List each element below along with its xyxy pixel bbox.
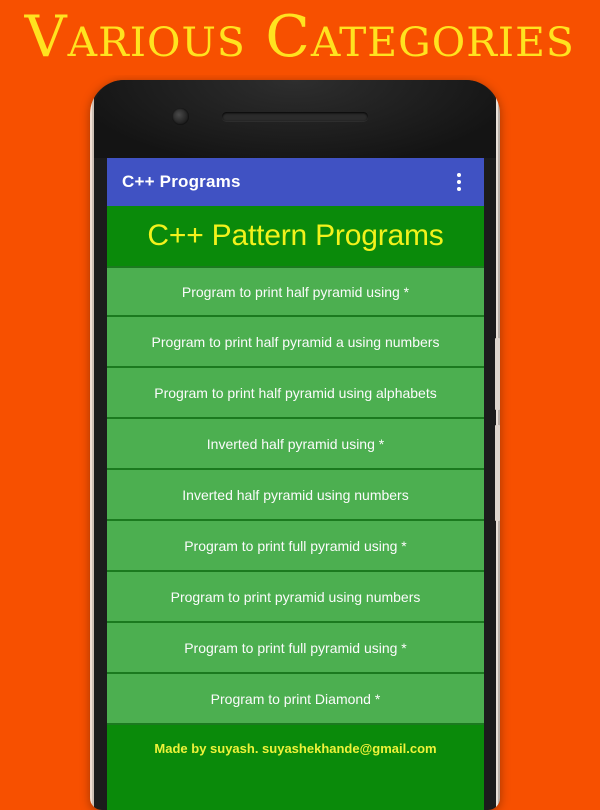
list-item[interactable]: Program to print Diamond *: [107, 674, 484, 725]
list-item[interactable]: Program to print full pyramid using *: [107, 521, 484, 572]
list-item[interactable]: Program to print half pyramid using *: [107, 266, 484, 317]
list-item-label: Program to print full pyramid using *: [176, 640, 415, 656]
volume-button[interactable]: [495, 338, 500, 410]
more-vert-dot: [457, 173, 461, 177]
list-item[interactable]: Inverted half pyramid using numbers: [107, 470, 484, 521]
list-item[interactable]: Program to print full pyramid using *: [107, 623, 484, 674]
page-heading: C++ Pattern Programs: [107, 206, 484, 266]
list-item-label: Program to print half pyramid using *: [174, 284, 417, 300]
list-item-label: Program to print Diamond *: [203, 691, 389, 707]
promo-banner: Various Categories: [0, 0, 600, 75]
list-item[interactable]: Program to print half pyramid using alph…: [107, 368, 484, 419]
app-bar: C++ Programs: [107, 158, 484, 206]
list-item-label: Inverted half pyramid using numbers: [174, 487, 416, 503]
page-title: C++ Pattern Programs: [147, 219, 443, 253]
list-item-label: Program to print full pyramid using *: [176, 538, 415, 554]
list-item[interactable]: Inverted half pyramid using *: [107, 419, 484, 470]
app-bar-title: C++ Programs: [122, 172, 444, 192]
promo-title: Various Categories: [25, 9, 575, 66]
list-item-label: Inverted half pyramid using *: [199, 436, 392, 452]
list-item-label: Program to print pyramid using numbers: [163, 589, 429, 605]
more-vert-dot: [457, 187, 461, 191]
front-camera-icon: [172, 108, 189, 125]
list-item[interactable]: Program to print half pyramid a using nu…: [107, 317, 484, 368]
list-item-label: Program to print half pyramid a using nu…: [144, 334, 448, 350]
power-button[interactable]: [495, 425, 500, 521]
phone-top-bezel: [94, 80, 496, 158]
more-vert-icon[interactable]: [444, 162, 474, 202]
phone-screen: C++ Programs C++ Pattern Programs Progra…: [107, 158, 484, 810]
list-item[interactable]: Program to print pyramid using numbers: [107, 572, 484, 623]
list-item-label: Program to print half pyramid using alph…: [146, 385, 444, 401]
app-footer: Made by suyash. suyashekhande@gmail.com: [107, 725, 484, 810]
footer-credit-text: Made by suyash. suyashekhande@gmail.com: [154, 741, 436, 756]
earpiece-speaker-icon: [222, 112, 368, 121]
program-list: Program to print half pyramid using *Pro…: [107, 266, 484, 725]
phone-device-frame: C++ Programs C++ Pattern Programs Progra…: [90, 80, 500, 810]
more-vert-dot: [457, 180, 461, 184]
